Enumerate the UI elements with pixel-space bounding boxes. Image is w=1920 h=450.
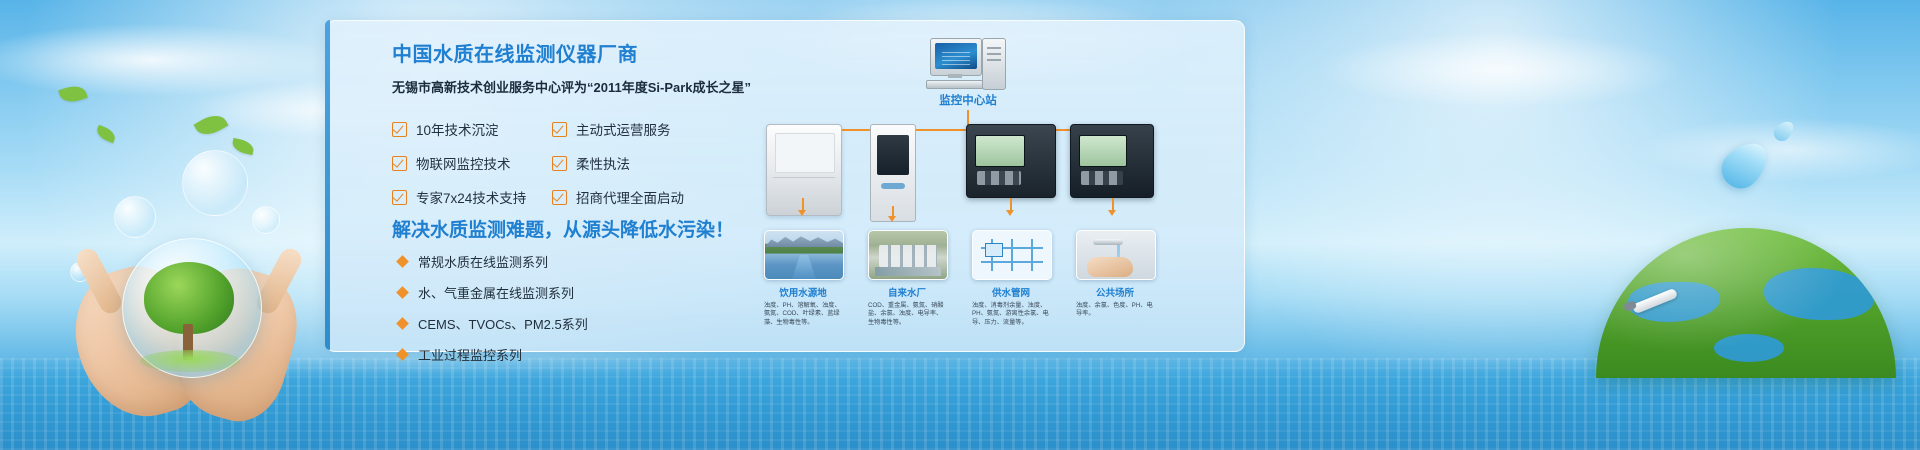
page-subtitle: 无锡市高新技术创业服务中心评为“2011年度Si-Park成长之星” (392, 79, 732, 97)
scene-caption: 自来水厂 (868, 285, 946, 299)
grass-patch (140, 350, 240, 372)
list-item: 常规水质在线监测系列 (398, 252, 588, 271)
feature-label: 招商代理全面启动 (576, 187, 684, 207)
feature-item: 物联网监控技术 (392, 153, 552, 173)
screen-content-lines (942, 51, 970, 65)
feature-label: 物联网监控技术 (416, 153, 511, 173)
feature-item: 10年技术沉淀 (392, 119, 552, 139)
arrow-shaft (1010, 198, 1012, 212)
check-icon (552, 190, 567, 205)
scene-photo-drinking-water-source (764, 230, 844, 280)
list-item: 水、气重金属在线监测系列 (398, 283, 588, 302)
product-line-label: 常规水质在线监测系列 (418, 252, 548, 271)
arrow-shaft (802, 198, 804, 212)
tower-slot (987, 47, 1001, 49)
feature-checklist: 10年技术沉淀 主动式运营服务 物联网监控技术 柔性执法 专家7x24技术支持 … (392, 119, 692, 207)
controller-lcd (975, 135, 1025, 167)
scene-card: 自来水厂 COD、重金属、氨氮、硝酸盐、余氯、浊度、电导率、生物毒性等。 (868, 230, 946, 327)
monitor-stand (948, 74, 962, 78)
scene-description: 浊度、余氯、色度、PH、电导率。 (1076, 302, 1154, 319)
feature-label: 柔性执法 (576, 153, 630, 173)
keyboard-icon (926, 80, 984, 89)
feature-label: 主动式运营服务 (576, 119, 671, 139)
check-icon (552, 122, 567, 137)
feature-item: 柔性执法 (552, 153, 692, 173)
feature-label: 专家7x24技术支持 (416, 187, 526, 207)
system-diagram: 监控中心站 饮用水源地 浊度、PH、溶解氧、浊度、氨氮、COD、叶绿素、蓝绿藻、… (752, 30, 1232, 340)
product-line-label: 水、气重金属在线监测系列 (418, 283, 574, 302)
secondary-headline: 解决水质监测难题，从源头降低水污染！ (392, 218, 734, 244)
feature-label: 10年技术沉淀 (416, 119, 499, 139)
scene-caption: 公共场所 (1076, 285, 1154, 299)
product-line-list: 常规水质在线监测系列 水、气重金属在线监测系列 CEMS、TVOCs、PM2.5… (398, 252, 588, 364)
analyzer-indicator (881, 183, 905, 189)
tower-slot (987, 53, 1001, 55)
check-icon (392, 190, 407, 205)
scene-card: 供水管网 浊度、消毒剂余量、浊度、PH、氨氮、游离性余氯、电导、压力、流量等。 (972, 230, 1050, 327)
scene-photo-pipe-network (972, 230, 1052, 280)
controller-buttons (1081, 171, 1123, 185)
scene-caption: 供水管网 (972, 285, 1050, 299)
pc-tower-icon (982, 38, 1006, 90)
controller-buttons (977, 171, 1021, 185)
arrow-shaft (892, 206, 894, 218)
check-icon (392, 156, 407, 171)
product-line-label: CEMS、TVOCs、PM2.5系列 (418, 314, 588, 333)
panel-accent-bar (325, 20, 330, 350)
controller-lcd (1079, 135, 1127, 167)
scene-card: 饮用水源地 浊度、PH、溶解氧、浊度、氨氮、COD、叶绿素、蓝绿藻、生物毒性等。 (764, 230, 842, 327)
scene-description: 浊度、PH、溶解氧、浊度、氨氮、COD、叶绿素、蓝绿藻、生物毒性等。 (764, 302, 842, 327)
headline-block: 中国水质在线监测仪器厂商 无锡市高新技术创业服务中心评为“2011年度Si-Pa… (392, 42, 732, 97)
monitor-icon (930, 38, 982, 76)
monitoring-center-computer-icon (930, 38, 1004, 94)
monitoring-center-label: 监控中心站 (904, 92, 1032, 108)
scene-card: 公共场所 浊度、余氯、色度、PH、电导率。 (1076, 230, 1154, 319)
list-item: CEMS、TVOCs、PM2.5系列 (398, 314, 588, 333)
bubble-icon (182, 150, 248, 216)
scene-photo-water-plant (868, 230, 948, 280)
check-icon (392, 122, 407, 137)
scene-description: 浊度、消毒剂余量、浊度、PH、氨氮、游离性余氯、电导、压力、流量等。 (972, 302, 1050, 327)
diamond-bullet-icon (396, 286, 409, 299)
analyzer-window (877, 135, 909, 175)
diamond-bullet-icon (396, 348, 409, 361)
device-controller-wide-icon (966, 124, 1056, 198)
hands-holding-tree-illustration (78, 228, 308, 450)
device-controller-narrow-icon (1070, 124, 1154, 198)
feature-item: 主动式运营服务 (552, 119, 692, 139)
cabinet-seam (773, 177, 835, 178)
arrow-shaft (1112, 198, 1114, 212)
scene-photo-public-place (1076, 230, 1156, 280)
tower-slot (987, 59, 1001, 61)
diamond-bullet-icon (396, 255, 409, 268)
monitor-screen (935, 43, 977, 69)
list-item: 工业过程监控系列 (398, 345, 588, 364)
product-line-label: 工业过程监控系列 (418, 345, 522, 364)
device-cabinet-icon (766, 124, 842, 216)
cabinet-panel-face (775, 133, 835, 173)
scene-caption: 饮用水源地 (764, 285, 842, 299)
check-icon (552, 156, 567, 171)
secondary-headline-block: 解决水质监测难题，从源头降低水污染！ (392, 218, 734, 244)
feature-item: 招商代理全面启动 (552, 187, 692, 207)
feature-item: 专家7x24技术支持 (392, 187, 552, 207)
page-title: 中国水质在线监测仪器厂商 (392, 42, 732, 68)
diamond-bullet-icon (396, 317, 409, 330)
scene-description: COD、重金属、氨氮、硝酸盐、余氯、浊度、电导率、生物毒性等。 (868, 302, 946, 327)
